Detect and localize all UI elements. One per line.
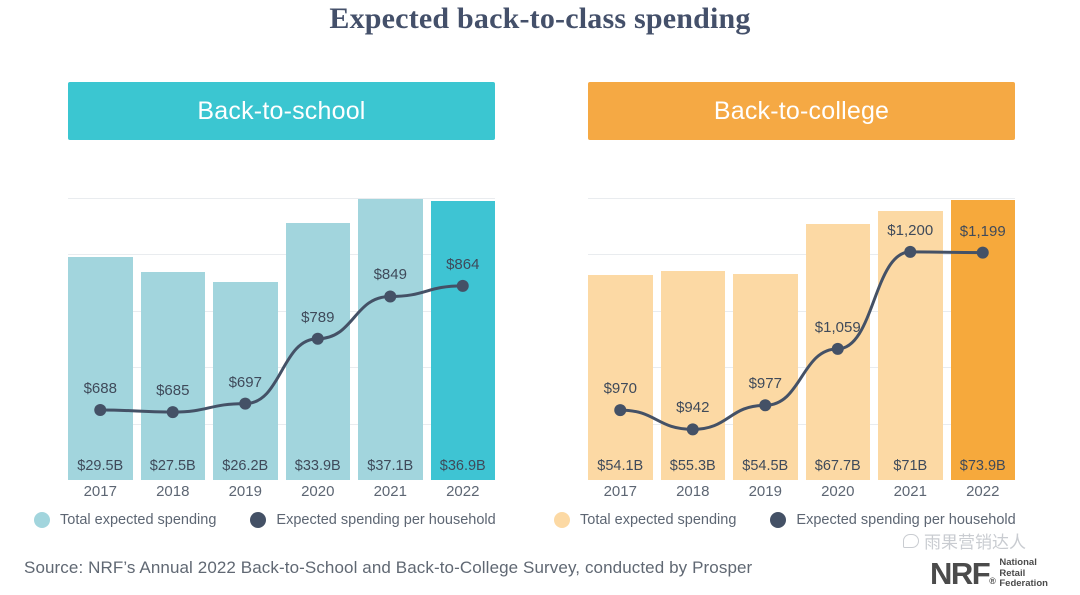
wechat-icon	[903, 534, 919, 548]
bar[interactable]: $71B	[878, 211, 943, 480]
bar-value-label: $33.9B	[286, 458, 351, 474]
bar-value-label: $36.9B	[431, 458, 496, 474]
legend-back-to-school: Total expected spendingExpected spending…	[34, 512, 496, 528]
x-axis-tick: 2020	[806, 483, 871, 500]
panel-back-to-school: Back-to-school $29.5B$27.5B$26.2B$33.9B$…	[68, 82, 495, 502]
bar[interactable]: $54.5B	[733, 274, 798, 480]
bar[interactable]: $26.2B	[213, 282, 278, 480]
bar-column[interactable]: $71B	[878, 162, 943, 480]
bar[interactable]: $55.3B	[661, 271, 726, 480]
bar[interactable]: $27.5B	[141, 272, 206, 480]
legend-swatch	[770, 512, 786, 528]
bar-column[interactable]: $55.3B	[661, 162, 726, 480]
bar-column[interactable]: $26.2B	[213, 162, 278, 480]
legend-label: Expected spending per household	[276, 512, 495, 528]
bar-value-label: $67.7B	[806, 458, 871, 474]
chart-page: Expected back-to-class spending Back-to-…	[0, 0, 1080, 595]
bar[interactable]: $67.7B	[806, 224, 871, 480]
bar[interactable]: $73.9B	[951, 200, 1016, 480]
x-axis-tick: 2018	[141, 483, 206, 500]
panel-header-back-to-college: Back-to-college	[588, 82, 1015, 140]
bar-value-label: $37.1B	[358, 458, 423, 474]
bar-value-label: $73.9B	[951, 458, 1016, 474]
nrf-line-3: Federation	[999, 579, 1048, 590]
x-axis: 201720182019202020212022	[588, 480, 1015, 502]
bar-column[interactable]: $29.5B	[68, 162, 133, 480]
bar-column[interactable]: $67.7B	[806, 162, 871, 480]
legend-swatch	[34, 512, 50, 528]
bar-value-label: $29.5B	[68, 458, 133, 474]
bar[interactable]: $33.9B	[286, 223, 351, 480]
x-axis-tick: 2021	[878, 483, 943, 500]
bar[interactable]: $54.1B	[588, 275, 653, 480]
bar-column[interactable]: $54.5B	[733, 162, 798, 480]
page-title: Expected back-to-class spending	[0, 2, 1080, 36]
x-axis-tick: 2022	[951, 483, 1016, 500]
bar-column[interactable]: $73.9B	[951, 162, 1016, 480]
bar-series: $54.1B$55.3B$54.5B$67.7B$71B$73.9B	[588, 162, 1015, 480]
x-axis-tick: 2022	[431, 483, 496, 500]
bar-value-label: $27.5B	[141, 458, 206, 474]
bar[interactable]: $37.1B	[358, 199, 423, 480]
x-axis-tick: 2017	[68, 483, 133, 500]
legend-swatch	[554, 512, 570, 528]
bar[interactable]: $36.9B	[431, 201, 496, 480]
bar-column[interactable]: $36.9B	[431, 162, 496, 480]
chart-back-to-school: $29.5B$27.5B$26.2B$33.9B$37.1B$36.9B2017…	[68, 162, 495, 502]
nrf-logo-subtext: National Retail Federation	[999, 558, 1048, 590]
panel-header-back-to-school: Back-to-school	[68, 82, 495, 140]
legend-swatch	[250, 512, 266, 528]
legend-label: Total expected spending	[60, 512, 216, 528]
watermark: 雨果营销达人	[903, 528, 1026, 553]
x-axis-tick: 2020	[286, 483, 351, 500]
watermark-text: 雨果营销达人	[924, 528, 1026, 553]
bar-column[interactable]: $54.1B	[588, 162, 653, 480]
bar[interactable]: $29.5B	[68, 257, 133, 480]
chart-back-to-college: $54.1B$55.3B$54.5B$67.7B$71B$73.9B201720…	[588, 162, 1015, 502]
bar-column[interactable]: $33.9B	[286, 162, 351, 480]
nrf-logo: NRF® National Retail Federation	[930, 558, 1048, 590]
x-axis: 201720182019202020212022	[68, 480, 495, 502]
x-axis-tick: 2021	[358, 483, 423, 500]
x-axis-tick: 2019	[733, 483, 798, 500]
x-axis-tick: 2019	[213, 483, 278, 500]
legend-back-to-college: Total expected spendingExpected spending…	[554, 512, 1016, 528]
x-axis-tick: 2018	[661, 483, 726, 500]
bar-column[interactable]: $27.5B	[141, 162, 206, 480]
bar-series: $29.5B$27.5B$26.2B$33.9B$37.1B$36.9B	[68, 162, 495, 480]
nrf-wordmark: NRF®	[930, 558, 994, 589]
bar-value-label: $26.2B	[213, 458, 278, 474]
x-axis-tick: 2017	[588, 483, 653, 500]
bar-column[interactable]: $37.1B	[358, 162, 423, 480]
source-note: Source: NRF’s Annual 2022 Back-to-School…	[24, 558, 752, 578]
legend-label: Expected spending per household	[796, 512, 1015, 528]
legend-label: Total expected spending	[580, 512, 736, 528]
bar-value-label: $54.5B	[733, 458, 798, 474]
bar-value-label: $71B	[878, 458, 943, 474]
panel-back-to-college: Back-to-college $54.1B$55.3B$54.5B$67.7B…	[588, 82, 1015, 502]
bar-value-label: $54.1B	[588, 458, 653, 474]
bar-value-label: $55.3B	[661, 458, 726, 474]
